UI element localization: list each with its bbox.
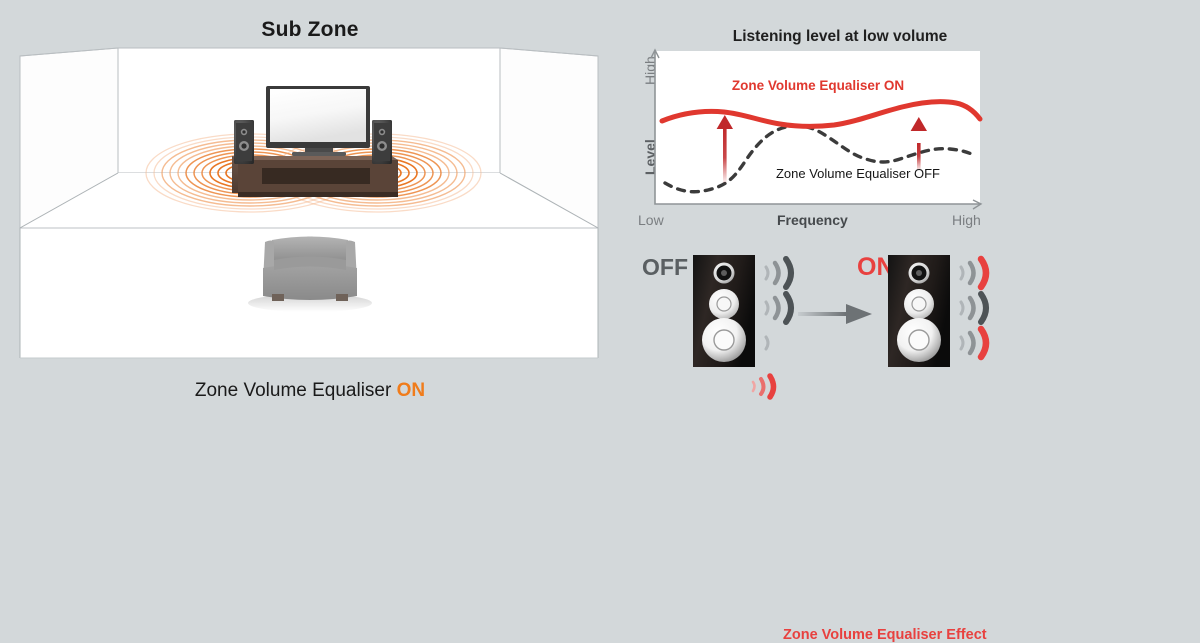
comparison-svg xyxy=(620,245,1200,420)
sound-waves-on xyxy=(961,259,986,357)
chart-plot-svg: Zone Volume Equaliser ON Zone Volume Equ… xyxy=(620,45,1020,240)
sub-zone-panel: Sub Zone xyxy=(0,0,620,420)
legend-wave-icon xyxy=(753,376,774,397)
equaliser-comparison: OFF ON xyxy=(620,245,1200,420)
speaker-right xyxy=(372,120,392,164)
sofa-with-listener xyxy=(248,237,372,313)
series-on-annotation: Zone Volume Equaliser ON xyxy=(732,78,904,93)
chart-title: Listening level at low volume xyxy=(650,28,1030,46)
series-off-annotation: Zone Volume Equaliser OFF xyxy=(776,166,940,181)
room-caption-state: ON xyxy=(397,380,426,401)
flat-screen-tv xyxy=(266,86,370,156)
room-illustration xyxy=(0,28,620,388)
equaliser-detail-panel: Listening level at low volume High Level… xyxy=(620,0,1200,420)
legend-label: Zone Volume Equaliser Effect xyxy=(783,627,987,643)
sound-waves-off xyxy=(766,259,791,349)
room-caption-prefix: Zone Volume Equaliser xyxy=(195,380,397,401)
infographic-root: Sub Zone xyxy=(0,0,1200,420)
frequency-response-chart: High Level Low High Frequency xyxy=(620,45,1020,240)
transition-arrow xyxy=(798,304,872,324)
speaker-equaliser-off xyxy=(693,255,755,367)
room-caption: Zone Volume Equaliser ON xyxy=(0,380,620,402)
speaker-left xyxy=(234,120,254,164)
speaker-equaliser-on xyxy=(888,255,950,367)
